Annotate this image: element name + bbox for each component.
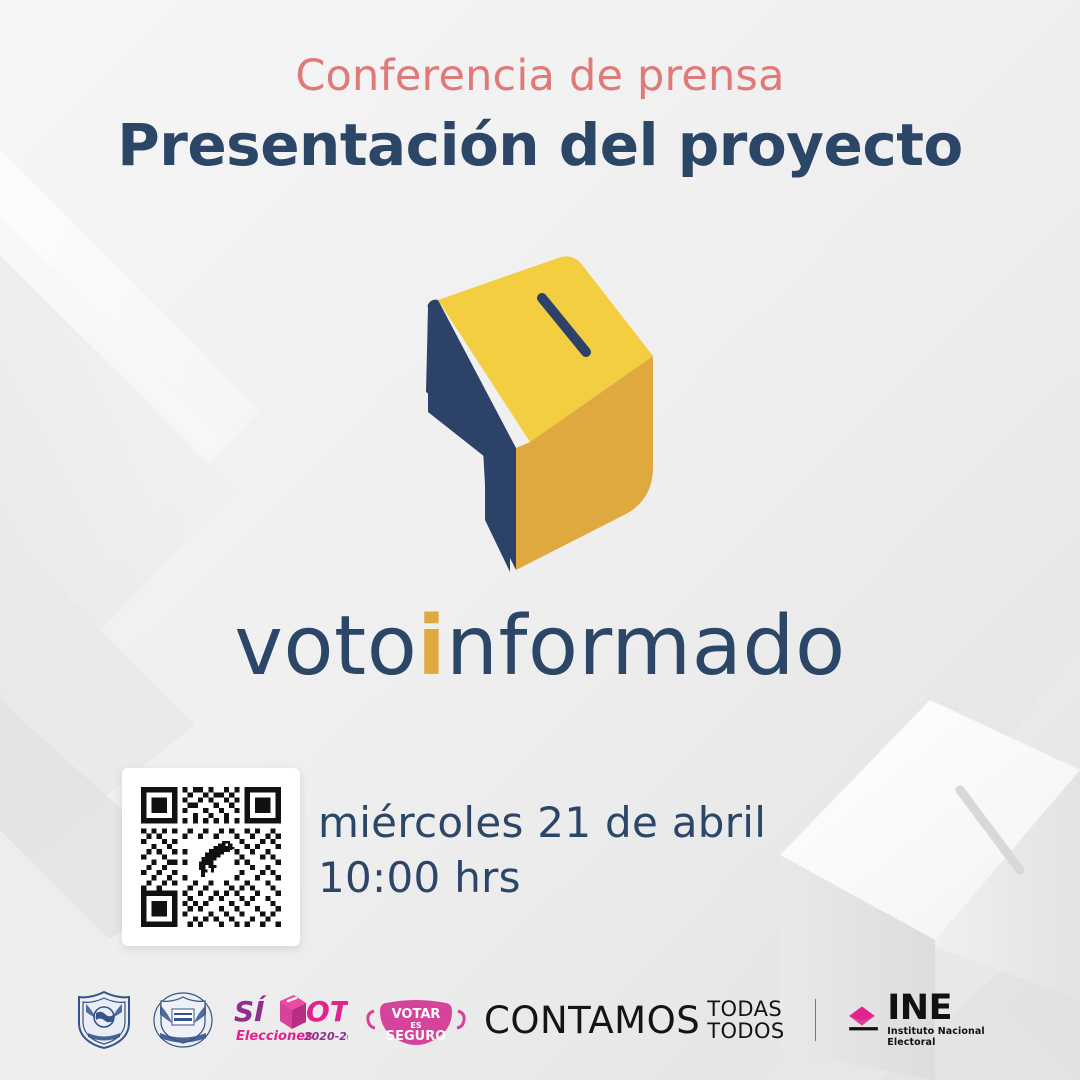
faculty-crest: [152, 989, 214, 1051]
ine-diamond-icon: [846, 999, 881, 1041]
event-datetime: miércoles 21 de abril 10:00 hrs: [318, 795, 766, 906]
dinosaur-icon: [188, 839, 235, 880]
votar-line1: VOTAR: [392, 1007, 441, 1022]
ine-subtitle: Instituto Nacional Electoral: [887, 1026, 1006, 1048]
ballot-box-speech-bubble-logo: [390, 252, 690, 572]
page-title: Presentación del proyecto: [0, 113, 1080, 178]
votar-es-seguro-icon: VOTAR ES SEGURO: [366, 991, 466, 1049]
unam-shield-icon: [74, 989, 134, 1051]
contamos-todos: TODOS: [707, 1021, 784, 1043]
si-voto-logo-icon: SÍ OTO Elecciones 2020-2021: [232, 989, 348, 1051]
wordmark-part-two: nformado: [446, 599, 846, 694]
qr-code-svg: [136, 782, 286, 932]
ine-logo: INE Instituto Nacional Electoral: [846, 992, 1006, 1048]
event-time: 10:00 hrs: [318, 850, 766, 905]
votar-es-seguro-logo: VOTAR ES SEGURO: [366, 991, 466, 1049]
votar-line3: SEGURO: [386, 1029, 447, 1044]
unam-shield: [74, 989, 134, 1051]
contamos-todas: TODAS: [707, 999, 784, 1021]
si-voto-subtitle: Elecciones: [236, 1029, 313, 1044]
si-voto-ballot-icon: [280, 995, 306, 1029]
ballot-box-logo-svg: [390, 252, 690, 572]
ine-acronym: INE: [887, 992, 952, 1024]
faculty-crest-icon: [152, 989, 214, 1051]
poster-heading-group: Conferencia de prensa Presentación del p…: [0, 52, 1080, 178]
footer-logo-strip: SÍ OTO Elecciones 2020-2021 VOTAR ES: [0, 978, 1080, 1062]
si-voto-logo: SÍ OTO Elecciones 2020-2021: [232, 989, 348, 1051]
brand-wordmark: votoinformado: [0, 606, 1080, 688]
footer-divider: [815, 999, 817, 1041]
si-voto-oto-text: OTO: [306, 995, 348, 1028]
wordmark-part-one: voto: [234, 599, 417, 694]
si-voto-si-text: SÍ: [234, 994, 267, 1028]
poster-canvas: Conferencia de prensa Presentación del p…: [0, 0, 1080, 1080]
contamos-logo: CONTAMOS TODAS TODOS: [484, 997, 785, 1042]
si-voto-years: 2020-2021: [304, 1030, 348, 1043]
contamos-main-text: CONTAMOS: [484, 1002, 700, 1039]
kicker-text: Conferencia de prensa: [0, 52, 1080, 101]
wordmark-accent-letter: i: [417, 599, 446, 694]
event-date: miércoles 21 de abril: [318, 795, 766, 850]
qr-code[interactable]: [122, 768, 300, 946]
